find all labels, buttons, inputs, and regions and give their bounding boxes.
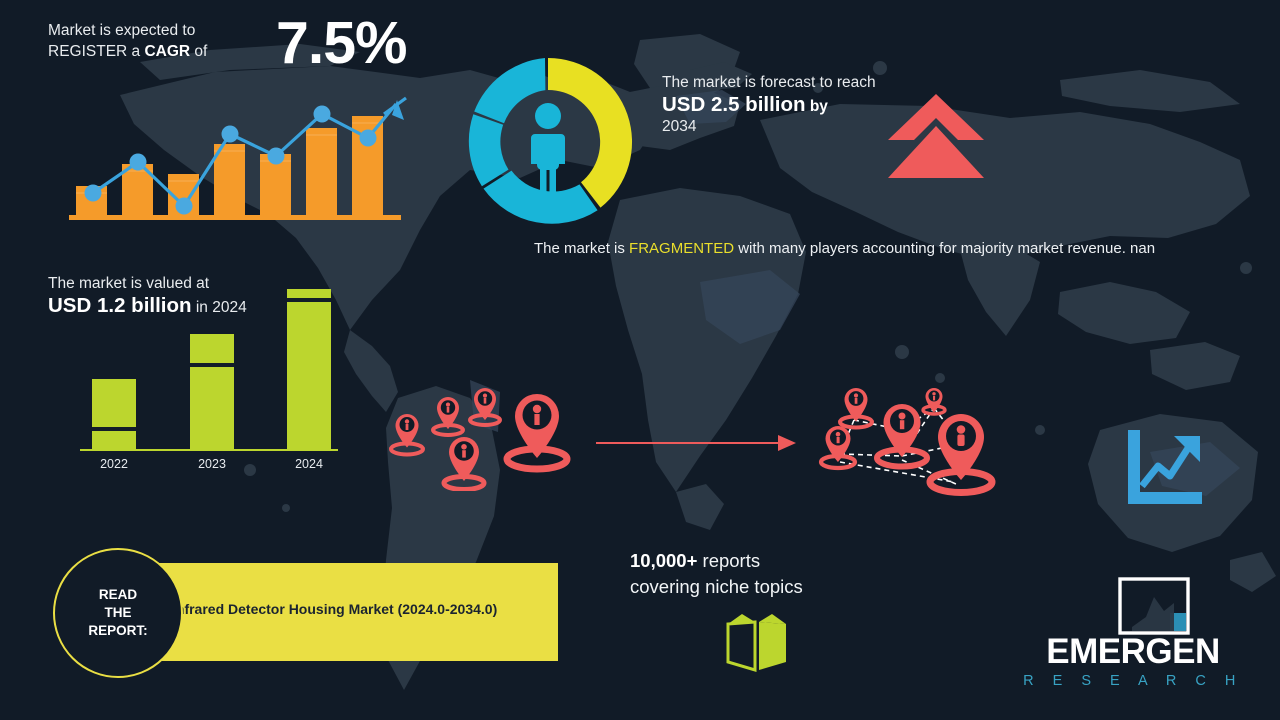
growth-trend-bar-chart	[66, 84, 411, 224]
map-pin-person-icon	[507, 394, 567, 469]
read-label-line2: THE	[104, 605, 131, 620]
double-up-chevron-icon	[884, 92, 988, 180]
read-the-report-badge[interactable]: READ THE REPORT:	[53, 548, 183, 678]
cagr-keyword: CAGR	[144, 43, 190, 60]
logo-wordmark: EMERGEN	[1018, 634, 1248, 669]
market-value-bar-chart: 2022 2023 2024	[80, 296, 340, 471]
reports-count-number: 10,000+	[630, 550, 697, 571]
chart-baseline	[69, 215, 401, 220]
bar-segment-divider	[92, 427, 136, 431]
donut-slice-1	[548, 58, 632, 208]
report-title[interactable]: Infrared Detector Housing Market (2024.0…	[172, 601, 572, 617]
green-bar-2023	[190, 334, 234, 449]
cagr-lead-line1: Market is expected to	[48, 22, 195, 39]
forecast-by-label: by	[806, 98, 828, 115]
person-icon	[531, 103, 565, 194]
growth-chart-icon	[1122, 428, 1204, 508]
cagr-value: 7.5%	[276, 14, 406, 73]
map-pin-person-icon	[821, 426, 855, 468]
read-label-line3: REPORT:	[88, 623, 147, 638]
reports-count-line1: 10,000+ reports	[630, 548, 930, 574]
read-the-report-label: READ THE REPORT:	[88, 586, 147, 640]
cagr-lead-line2-suffix: of	[190, 43, 207, 60]
green-bar-label-2022: 2022	[84, 457, 144, 471]
cagr-lead-line2-prefix: REGISTER a	[48, 43, 144, 60]
forecast-lead-text: The market is forecast to reach	[662, 72, 887, 93]
fragmented-keyword: FRAGMENTED	[629, 240, 734, 257]
map-pin-person-icon	[930, 414, 992, 493]
logo-subtitle: R E S E A R C H	[1018, 673, 1248, 689]
cagr-block: Market is expected to REGISTER a CAGR of…	[48, 20, 468, 62]
fragmented-statement: The market is FRAGMENTED with many playe…	[534, 238, 1224, 260]
forecast-value-row: USD 2.5 billion by 2034	[662, 93, 887, 137]
map-pin-person-icon	[840, 388, 872, 428]
read-label-line1: READ	[99, 587, 137, 602]
donut-slice-3	[469, 114, 509, 186]
green-bar-label-2024: 2024	[279, 457, 339, 471]
right-arrow-icon	[596, 432, 796, 454]
forecast-year: 2034	[662, 117, 887, 137]
forecast-value: USD 2.5 billion	[662, 93, 806, 116]
map-pin-network-group	[806, 386, 1011, 501]
reports-count-line1-rest: reports	[697, 550, 760, 571]
map-pin-person-icon	[470, 388, 500, 425]
map-pin-person-icon	[391, 414, 423, 455]
bar-segment-divider	[287, 298, 331, 302]
green-bar-2024	[287, 289, 331, 449]
reports-count-block: 10,000+ reports covering niche topics	[630, 548, 930, 600]
fragmented-prefix: The market is	[534, 240, 629, 257]
bar-4	[214, 144, 245, 216]
market-share-donut	[458, 52, 638, 232]
cagr-lead-text: Market is expected to REGISTER a CAGR of	[48, 20, 233, 62]
donut-slice-4	[474, 58, 545, 123]
bar-6	[306, 128, 337, 216]
forecast-block: The market is forecast to reach USD 2.5 …	[662, 72, 887, 137]
map-pin-group-scattered	[380, 386, 580, 491]
map-pin-person-icon	[923, 388, 945, 414]
open-book-icon	[722, 612, 792, 672]
emergen-research-logo: EMERGEN R E S E A R C H	[1018, 577, 1248, 697]
logo-mark-icon	[1118, 577, 1190, 635]
map-pin-person-icon	[877, 404, 927, 467]
green-bar-2022	[92, 379, 136, 449]
fragmented-suffix: with many players accounting for majorit…	[734, 240, 1155, 257]
map-pin-person-icon	[444, 437, 484, 490]
map-pin-person-icon	[433, 397, 463, 435]
reports-count-line2: covering niche topics	[630, 574, 930, 600]
green-bar-label-2023: 2023	[182, 457, 242, 471]
infographic-canvas: Market is expected to REGISTER a CAGR of…	[0, 0, 1280, 720]
bar-segment-divider	[190, 363, 234, 367]
